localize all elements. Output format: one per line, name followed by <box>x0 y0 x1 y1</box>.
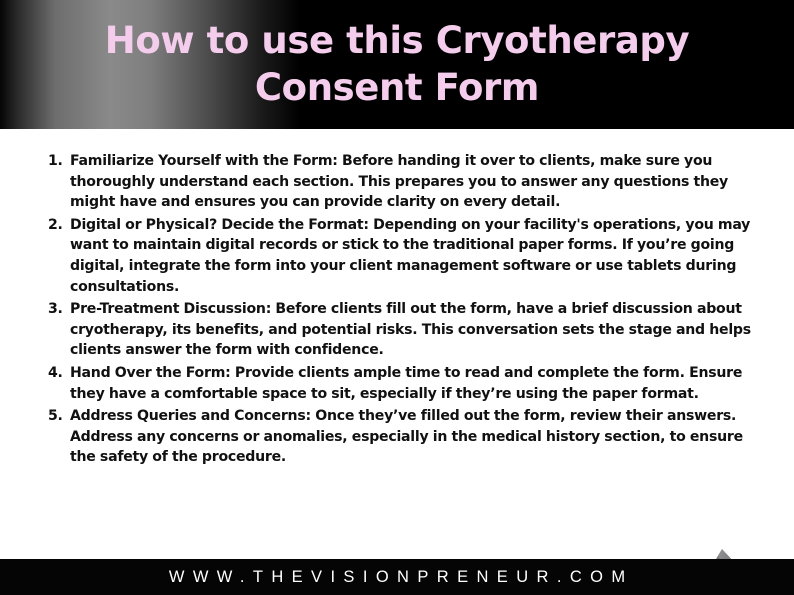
list-item-text: Address Queries and Concerns: Once they’… <box>70 408 743 465</box>
list-item-number: 4. <box>48 363 68 384</box>
page-title-line-1: How to use this Cryotherapy <box>105 18 689 64</box>
footer-bar: WWW.THEVISIONPRENEUR.COM <box>0 559 794 595</box>
list-item: 4. Hand Over the Form: Provide clients a… <box>48 363 760 404</box>
page-title-line-2: Consent Form <box>255 65 539 111</box>
header-banner: How to use this Cryotherapy Consent Form <box>0 0 794 129</box>
list-item-text: Familiarize Yourself with the Form: Befo… <box>70 153 728 210</box>
list-item: 1. Familiarize Yourself with the Form: B… <box>48 151 760 213</box>
list-item: 5. Address Queries and Concerns: Once th… <box>48 406 760 468</box>
list-item-number: 2. <box>48 215 68 236</box>
list-item-number: 3. <box>48 299 68 320</box>
list-item-text: Pre-Treatment Discussion: Before clients… <box>70 301 751 358</box>
list-item-text: Hand Over the Form: Provide clients ampl… <box>70 365 742 402</box>
list-item-text: Digital or Physical? Decide the Format: … <box>70 217 750 295</box>
list-item: 3. Pre-Treatment Discussion: Before clie… <box>48 299 760 361</box>
pencil-icon <box>700 537 794 559</box>
content-area: 1. Familiarize Yourself with the Form: B… <box>0 129 794 559</box>
list-item-number: 5. <box>48 406 68 427</box>
list-item-number: 1. <box>48 151 68 172</box>
instructions-list: 1. Familiarize Yourself with the Form: B… <box>48 151 760 470</box>
list-item: 2. Digital or Physical? Decide the Forma… <box>48 215 760 297</box>
footer-website-url: WWW.THEVISIONPRENEUR.COM <box>160 568 633 587</box>
